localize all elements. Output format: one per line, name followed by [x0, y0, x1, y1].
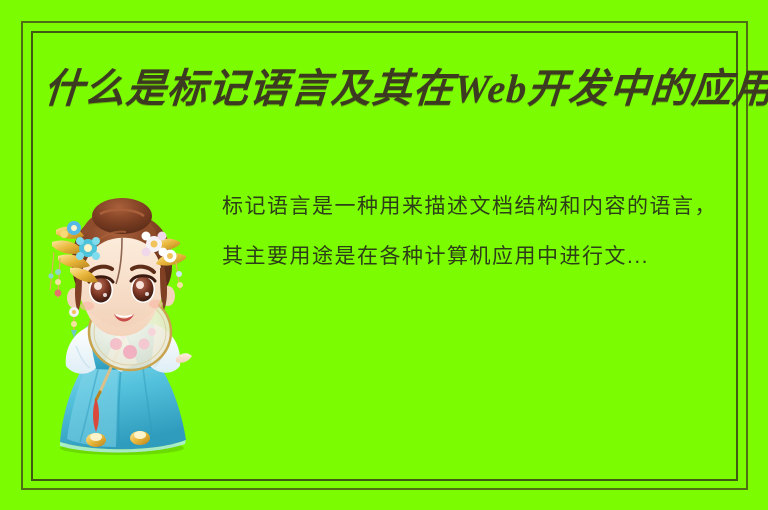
body-paragraph: 标记语言是一种用来描述文档结构和内容的语言，其主要用途是在各种计算机应用中进行文… — [222, 182, 722, 282]
flower-blue-left — [76, 237, 100, 260]
chibi-girl-illustration — [30, 186, 206, 458]
earring-left — [69, 307, 79, 338]
eye-right — [131, 275, 155, 303]
flower-blue-left-2 — [67, 221, 81, 235]
flower-white-right-2 — [164, 250, 177, 263]
poster-card: 什么是标记语言及其在Web开发中的应用 标记语言是一种用来描述文档结构和内容的语… — [0, 0, 768, 510]
page-title: 什么是标记语言及其在Web开发中的应用 — [42, 60, 736, 118]
